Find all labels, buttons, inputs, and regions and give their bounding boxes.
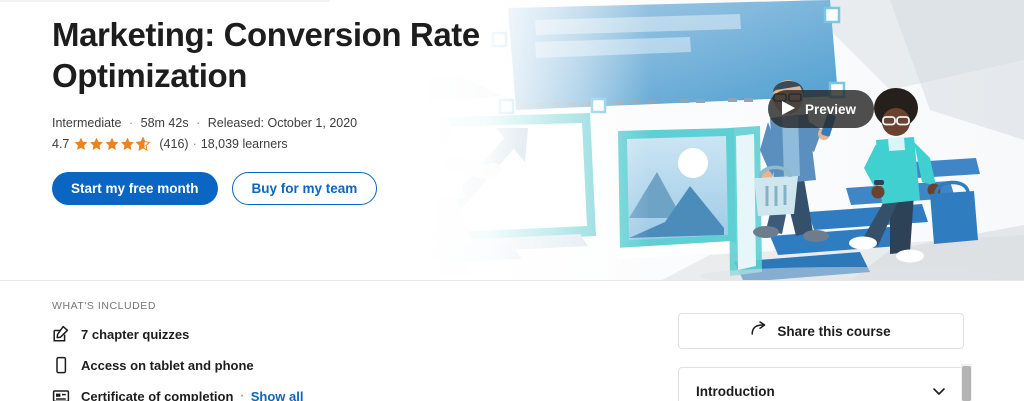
play-icon [781, 100, 796, 119]
scrollbar-thumb[interactable] [962, 366, 971, 401]
included-item-label: 7 chapter quizzes [81, 327, 189, 342]
included-item-quizzes: 7 chapter quizzes [52, 325, 472, 343]
rating-line: 4.7 [52, 136, 522, 152]
start-free-month-button[interactable]: Start my free month [52, 172, 218, 205]
included-item-certificate: Certificate of completion · Show all [52, 387, 472, 401]
phone-icon [52, 356, 70, 374]
preview-button[interactable]: Preview [768, 90, 874, 128]
course-release-date: Released: October 1, 2020 [208, 116, 357, 130]
quiz-icon [52, 325, 70, 343]
meta-separator: · [193, 136, 197, 152]
share-arrow-icon [751, 321, 768, 341]
rating-score: 4.7 [52, 136, 69, 152]
buy-for-team-button[interactable]: Buy for my team [232, 172, 378, 205]
included-separator: · [239, 387, 244, 401]
hero-section: Marketing: Conversion Rate Optimization … [0, 0, 1024, 281]
included-item-label: Access on tablet and phone [81, 358, 254, 373]
chevron-down-icon[interactable] [932, 384, 946, 398]
course-level: Intermediate [52, 116, 121, 130]
included-item-mobile: Access on tablet and phone [52, 356, 472, 374]
toc-section-title: Introduction [696, 384, 932, 399]
hero-text-block: Marketing: Conversion Rate Optimization … [52, 14, 522, 205]
whats-included-section: WHAT'S INCLUDED 7 chapter quizzes [52, 300, 472, 401]
share-course-button[interactable]: Share this course [678, 313, 964, 349]
share-label: Share this course [777, 324, 890, 339]
course-duration: 58m 42s [141, 116, 189, 130]
whats-included-heading: WHAT'S INCLUDED [52, 300, 472, 312]
certificate-icon [52, 387, 70, 401]
preview-label: Preview [805, 102, 856, 117]
cta-button-row: Start my free month Buy for my team [52, 172, 522, 205]
included-item-label: Certificate of completion [81, 389, 233, 401]
rating-stars [74, 137, 154, 151]
meta-separator: · [196, 116, 200, 130]
learner-count: 18,039 learners [201, 136, 288, 152]
meta-separator: · [129, 116, 133, 130]
page-title: Marketing: Conversion Rate Optimization [52, 14, 522, 96]
course-meta-line: Intermediate · 58m 42s · Released: Octob… [52, 115, 522, 131]
toc-section-introduction[interactable]: Introduction [678, 367, 964, 401]
course-page: Marketing: Conversion Rate Optimization … [0, 0, 1024, 401]
show-all-link[interactable]: Show all [251, 389, 304, 401]
rating-count: (416) [159, 136, 188, 152]
